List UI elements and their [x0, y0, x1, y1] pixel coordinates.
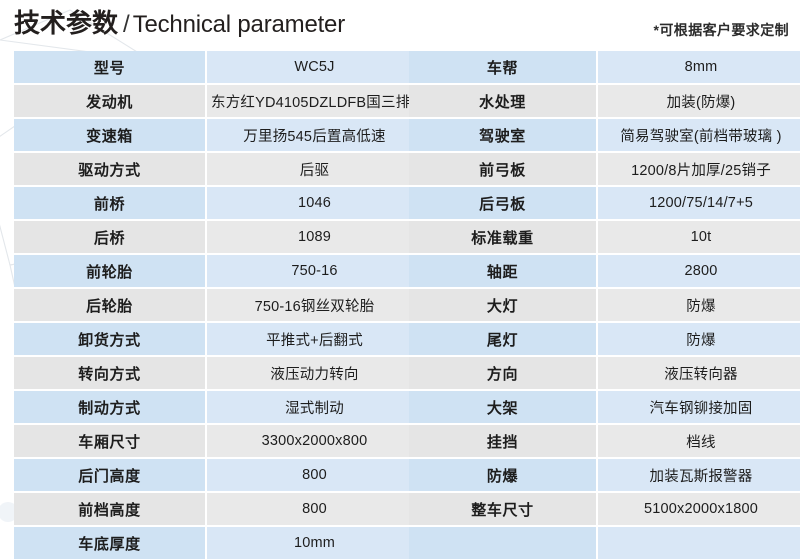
table-row: 尾灯防爆: [409, 322, 800, 356]
spec-label: 方向: [409, 356, 597, 390]
table-row: 轴距2800: [409, 254, 800, 288]
spec-value: 后驱: [206, 152, 422, 186]
page-title-cn: 技术参数: [14, 8, 118, 38]
spec-label: 转向方式: [14, 356, 206, 390]
spec-value: 加装(防爆): [597, 84, 800, 118]
spec-value: 万里扬545后置高低速: [206, 118, 422, 152]
page-title-en: Technical parameter: [133, 11, 345, 38]
customization-note: *可根据客户要求定制: [654, 20, 789, 40]
table-row: 后弓板1200/75/14/7+5: [409, 186, 800, 220]
table-row: 前弓板1200/8片加厚/25销子: [409, 152, 800, 186]
table-row: 后轮胎750-16钢丝双轮胎: [14, 288, 422, 322]
spec-label: 尾灯: [409, 322, 597, 356]
table-row: 车厢尺寸3300x2000x800: [14, 424, 422, 458]
table-row: 驱动方式后驱: [14, 152, 422, 186]
spec-label: 大架: [409, 390, 597, 424]
spec-label: 后桥: [14, 220, 206, 254]
table-row: 大架汽车钢铆接加固: [409, 390, 800, 424]
table-row: 变速箱万里扬545后置高低速: [14, 118, 422, 152]
table-row: 型号WC5J: [14, 51, 422, 84]
spec-label: 卸货方式: [14, 322, 206, 356]
spec-value: 东方红YD4105DZLDFB国三排放: [206, 84, 422, 118]
spec-value: 档线: [597, 424, 800, 458]
spec-label: 车帮: [409, 51, 597, 84]
spec-value: 3300x2000x800: [206, 424, 422, 458]
spec-label: 整车尺寸: [409, 492, 597, 526]
spec-value: 1089: [206, 220, 422, 254]
spec-label: 发动机: [14, 84, 206, 118]
spec-label: 后轮胎: [14, 288, 206, 322]
spec-value: 750-16: [206, 254, 422, 288]
spec-value: 800: [206, 492, 422, 526]
spec-label: 防爆: [409, 458, 597, 492]
table-row: 卸货方式平推式+后翻式: [14, 322, 422, 356]
page-header: 技术参数/Technical parameter *可根据客户要求定制: [0, 0, 800, 51]
spec-table-right-body: 车帮8mm水处理加装(防爆)驾驶室简易驾驶室(前档带玻璃 )前弓板1200/8片…: [409, 51, 800, 559]
page-title-separator: /: [123, 11, 130, 38]
spec-value: 1200/8片加厚/25销子: [597, 152, 800, 186]
table-row: 方向液压转向器: [409, 356, 800, 390]
spec-value: 加装瓦斯报警器: [597, 458, 800, 492]
spec-label: 前弓板: [409, 152, 597, 186]
spec-label: 制动方式: [14, 390, 206, 424]
spec-label: 前桥: [14, 186, 206, 220]
spec-label: 前档高度: [14, 492, 206, 526]
spec-value: WC5J: [206, 51, 422, 84]
table-row: 挂挡档线: [409, 424, 800, 458]
spec-label: 大灯: [409, 288, 597, 322]
spec-label: 前轮胎: [14, 254, 206, 288]
page-title: 技术参数/Technical parameter: [14, 6, 345, 42]
spec-value: 汽车钢铆接加固: [597, 390, 800, 424]
spec-label: 变速箱: [14, 118, 206, 152]
table-row: 后桥1089: [14, 220, 422, 254]
spec-value: 简易驾驶室(前档带玻璃 ): [597, 118, 800, 152]
spec-value: 10t: [597, 220, 800, 254]
spec-value: 5100x2000x1800: [597, 492, 800, 526]
table-row: 驾驶室简易驾驶室(前档带玻璃 ): [409, 118, 800, 152]
spec-label: 车厢尺寸: [14, 424, 206, 458]
spec-value: 防爆: [597, 288, 800, 322]
table-row: 前档高度800: [14, 492, 422, 526]
table-row: 转向方式液压动力转向: [14, 356, 422, 390]
table-row: 防爆加装瓦斯报警器: [409, 458, 800, 492]
spec-label: 水处理: [409, 84, 597, 118]
spec-label: 轴距: [409, 254, 597, 288]
spec-label: 型号: [14, 51, 206, 84]
spec-value: 防爆: [597, 322, 800, 356]
spec-value: 湿式制动: [206, 390, 422, 424]
table-row: 水处理加装(防爆): [409, 84, 800, 118]
spec-value: 液压动力转向: [206, 356, 422, 390]
spec-value: 1046: [206, 186, 422, 220]
spec-table-left-body: 型号WC5J发动机东方红YD4105DZLDFB国三排放变速箱万里扬545后置高…: [14, 51, 422, 559]
spec-value: 2800: [597, 254, 800, 288]
table-row: 前轮胎750-16: [14, 254, 422, 288]
spec-value: 平推式+后翻式: [206, 322, 422, 356]
spec-value: 800: [206, 458, 422, 492]
spec-value: 1200/75/14/7+5: [597, 186, 800, 220]
spec-label: 后弓板: [409, 186, 597, 220]
spec-label: 驾驶室: [409, 118, 597, 152]
table-row: 后门高度800: [14, 458, 422, 492]
spec-label: 驱动方式: [14, 152, 206, 186]
spec-label: 挂挡: [409, 424, 597, 458]
spec-value: 750-16钢丝双轮胎: [206, 288, 422, 322]
table-row: 制动方式湿式制动: [14, 390, 422, 424]
spec-value: 液压转向器: [597, 356, 800, 390]
table-row: 发动机东方红YD4105DZLDFB国三排放: [14, 84, 422, 118]
table-row: 前桥1046: [14, 186, 422, 220]
spec-label: 标准载重: [409, 220, 597, 254]
spec-label: 后门高度: [14, 458, 206, 492]
spec-value: 8mm: [597, 51, 800, 84]
spec-table-left: 型号WC5J发动机东方红YD4105DZLDFB国三排放变速箱万里扬545后置高…: [14, 51, 422, 559]
table-row: 标准载重10t: [409, 220, 800, 254]
table-row: 整车尺寸5100x2000x1800: [409, 492, 800, 526]
spec-table-right: 车帮8mm水处理加装(防爆)驾驶室简易驾驶室(前档带玻璃 )前弓板1200/8片…: [409, 51, 800, 559]
table-row: 车帮8mm: [409, 51, 800, 84]
table-row: 大灯防爆: [409, 288, 800, 322]
